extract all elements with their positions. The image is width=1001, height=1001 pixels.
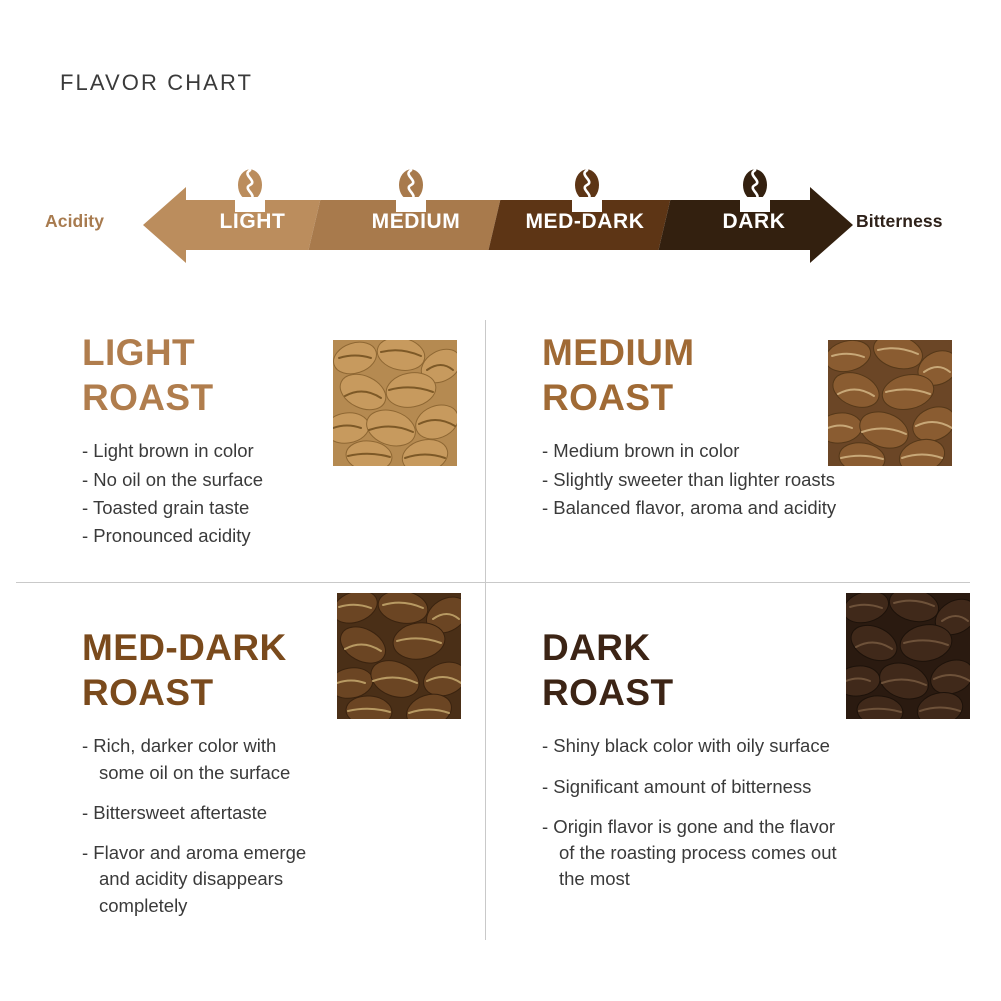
coffee-bean-icon [392,166,430,212]
list-item: - No oil on the surface [82,467,482,493]
scale-label-medium[interactable]: MEDIUM [352,210,480,234]
roast-card-med-dark: MED-DARK ROAST - Rich, darker color with… [82,625,482,933]
list-item: - Origin flavor is gone and the flavor o… [542,814,962,893]
roast-heading: MED-DARK ROAST [82,625,482,715]
list-item: - Bittersweet aftertaste [82,800,482,826]
coffee-bean-icon [231,166,269,212]
axis-label-bitterness: Bitterness [856,211,943,232]
coffee-bean-icon [568,166,606,212]
page-title: FLAVOR CHART [60,70,253,96]
roast-heading: MEDIUM ROAST [542,330,962,420]
list-item: - Toasted grain taste [82,495,482,521]
quadrant-divider-vertical [485,320,486,940]
roast-scale-arrow [0,160,1001,275]
roast-heading: DARK ROAST [542,625,962,715]
roast-bullet-list: - Shiny black color with oily surface - … [542,733,962,892]
list-item: - Balanced flavor, aroma and acidity [542,495,962,521]
roast-heading: LIGHT ROAST [82,330,482,420]
list-item: - Slightly sweeter than lighter roasts [542,467,962,493]
list-item: - Pronounced acidity [82,523,482,549]
axis-label-acidity: Acidity [45,211,104,232]
list-item: - Rich, darker color with some oil on th… [82,733,482,786]
scale-label-light[interactable]: LIGHT [195,210,310,234]
flavor-chart-page: FLAVOR CHART Acidity Bitternes [0,0,1001,1001]
roast-bullet-list: - Rich, darker color with some oil on th… [82,733,482,919]
roast-scale-band [0,160,1001,275]
roast-card-dark: DARK ROAST - Shiny black color with oily… [542,625,962,907]
quadrant-divider-horizontal [16,582,970,583]
scale-label-dark[interactable]: DARK [690,210,818,234]
list-item: - Significant amount of bitterness [542,774,962,800]
scale-label-med-dark[interactable]: MED-DARK [505,210,665,234]
list-item: - Flavor and aroma emerge and acidity di… [82,840,482,919]
list-item: - Shiny black color with oily surface [542,733,962,759]
coffee-bean-icon [736,166,774,212]
